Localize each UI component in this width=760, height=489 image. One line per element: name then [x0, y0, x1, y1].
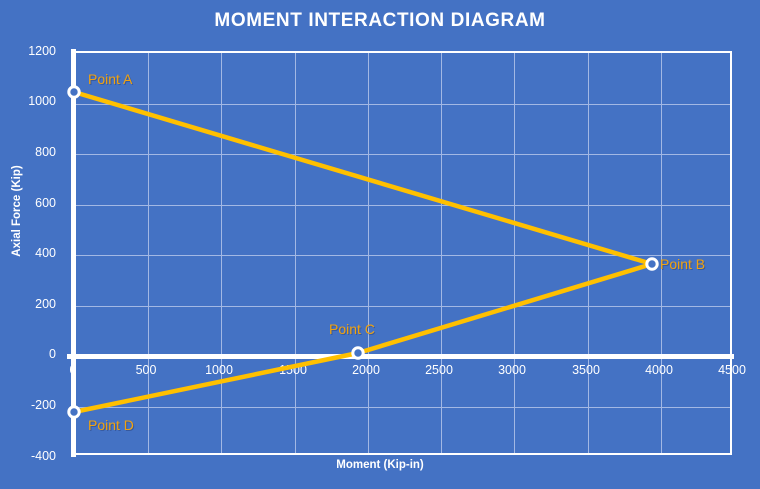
x-tick-label: 4000 — [624, 364, 694, 377]
gridline-vertical — [661, 53, 662, 453]
moment-interaction-chart: MOMENT INTERACTION DIAGRAM 1200 1000 800… — [0, 0, 760, 489]
gridline-vertical — [588, 53, 589, 453]
gridline-vertical — [514, 53, 515, 453]
plot-area — [73, 51, 732, 455]
gridline-horizontal — [75, 154, 730, 155]
x-tick-label: 3000 — [477, 364, 547, 377]
y-tick-label: -200 — [0, 399, 56, 412]
gridline-horizontal — [75, 407, 730, 408]
x-tick-label: 1500 — [258, 364, 328, 377]
x-axis-title: Moment (Kip-in) — [0, 459, 760, 471]
y-tick-label: 1200 — [0, 45, 56, 58]
gridline-vertical — [295, 53, 296, 453]
point-d-label: Point D — [88, 418, 134, 432]
x-tick-label: 3500 — [551, 364, 621, 377]
x-tick-label: 500 — [111, 364, 181, 377]
point-a-label: Point A — [88, 72, 132, 86]
y-tick-label: 800 — [0, 146, 56, 159]
x-tick-label: 2500 — [404, 364, 474, 377]
gridline-horizontal — [75, 306, 730, 307]
x-tick-label: 1000 — [184, 364, 254, 377]
x-tick-label: 4500 — [697, 364, 760, 377]
gridline-horizontal — [75, 205, 730, 206]
y-tick-label: 0 — [0, 348, 56, 361]
y-axis-title: Axial Force (Kip) — [11, 141, 23, 281]
gridline-vertical — [148, 53, 149, 453]
gridline-horizontal — [75, 255, 730, 256]
point-b-label: Point B — [660, 257, 705, 271]
y-tick-label: 400 — [0, 247, 56, 260]
gridline-vertical — [368, 53, 369, 453]
y-tick-label: 600 — [0, 197, 56, 210]
gridline-vertical — [441, 53, 442, 453]
point-c-label: Point C — [329, 322, 375, 336]
zero-axis-line — [75, 354, 734, 359]
gridline-vertical — [221, 53, 222, 453]
y-tick-label: 200 — [0, 298, 56, 311]
y-axis-line — [71, 49, 76, 457]
y-tick-label: 1000 — [0, 95, 56, 108]
x-tick-label: 2000 — [331, 364, 401, 377]
x-tick-label: 0 — [38, 364, 108, 377]
chart-title: MOMENT INTERACTION DIAGRAM — [0, 10, 760, 32]
gridline-horizontal — [75, 104, 730, 105]
